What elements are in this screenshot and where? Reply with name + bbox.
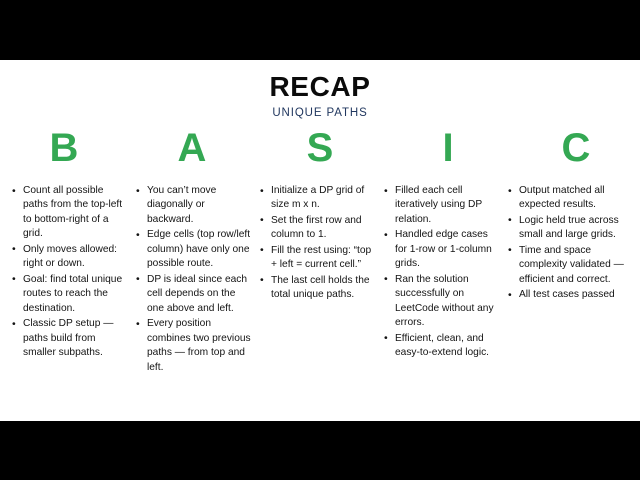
acronym-letter-i: I [384, 128, 512, 168]
slide-header: RECAP UNIQUE PATHS [0, 72, 640, 120]
list-item: Efficient, clean, and easy-to-extend log… [384, 332, 501, 361]
list-item: Initialize a DP grid of size m x n. [260, 184, 377, 213]
acronym-letter-s: S [256, 128, 384, 168]
bullet-column-i: Filled each cell iteratively using DP re… [384, 184, 508, 362]
list-item: Every position combines two previous pat… [136, 317, 253, 375]
list-item: Logic held true across small and large g… [508, 214, 625, 243]
bullet-column-b: Count all possible paths from the top-le… [12, 184, 136, 362]
list-item: All test cases passed [508, 288, 625, 302]
list-item: Time and space complexity validated — ef… [508, 244, 625, 287]
list-item: Goal: find total unique routes to reach … [12, 273, 129, 316]
slide-canvas: RECAP UNIQUE PATHS B A S I C Count all p… [0, 60, 640, 421]
bullet-column-s: Initialize a DP grid of size m x n. Set … [260, 184, 384, 304]
list-item: Fill the rest using: “top + left = curre… [260, 244, 377, 273]
bullet-columns-row: Count all possible paths from the top-le… [12, 184, 632, 376]
list-item: Edge cells (top row/left column) have on… [136, 228, 253, 271]
list-item: Output matched all expected results. [508, 184, 625, 213]
bullet-list: You can’t move diagonally or backward. E… [136, 184, 253, 375]
acronym-row: B A S I C [0, 128, 640, 168]
acronym-letter-c: C [512, 128, 640, 168]
list-item: DP is ideal since each cell depends on t… [136, 273, 253, 316]
bullet-column-a: You can’t move diagonally or backward. E… [136, 184, 260, 376]
list-item: You can’t move diagonally or backward. [136, 184, 253, 227]
list-item: Filled each cell iteratively using DP re… [384, 184, 501, 227]
list-item: Ran the solution successfully on LeetCod… [384, 273, 501, 331]
bullet-column-c: Output matched all expected results. Log… [508, 184, 632, 304]
list-item: Only moves allowed: right or down. [12, 243, 129, 272]
bullet-list: Output matched all expected results. Log… [508, 184, 625, 303]
list-item: Set the first row and column to 1. [260, 214, 377, 243]
list-item: The last cell holds the total unique pat… [260, 274, 377, 303]
list-item: Handled edge cases for 1-row or 1-column… [384, 228, 501, 271]
list-item: Count all possible paths from the top-le… [12, 184, 129, 242]
letterbox-bar-bottom [0, 421, 640, 480]
list-item: Classic DP setup — paths build from smal… [12, 317, 129, 360]
bullet-list: Filled each cell iteratively using DP re… [384, 184, 501, 361]
letterbox-bar-top [0, 0, 640, 60]
page-title: RECAP [0, 72, 640, 101]
acronym-letter-a: A [128, 128, 256, 168]
acronym-letter-b: B [0, 128, 128, 168]
bullet-list: Initialize a DP grid of size m x n. Set … [260, 184, 377, 303]
bullet-list: Count all possible paths from the top-le… [12, 184, 129, 361]
page-subtitle: UNIQUE PATHS [0, 107, 640, 120]
slide-frame: RECAP UNIQUE PATHS B A S I C Count all p… [0, 0, 640, 480]
